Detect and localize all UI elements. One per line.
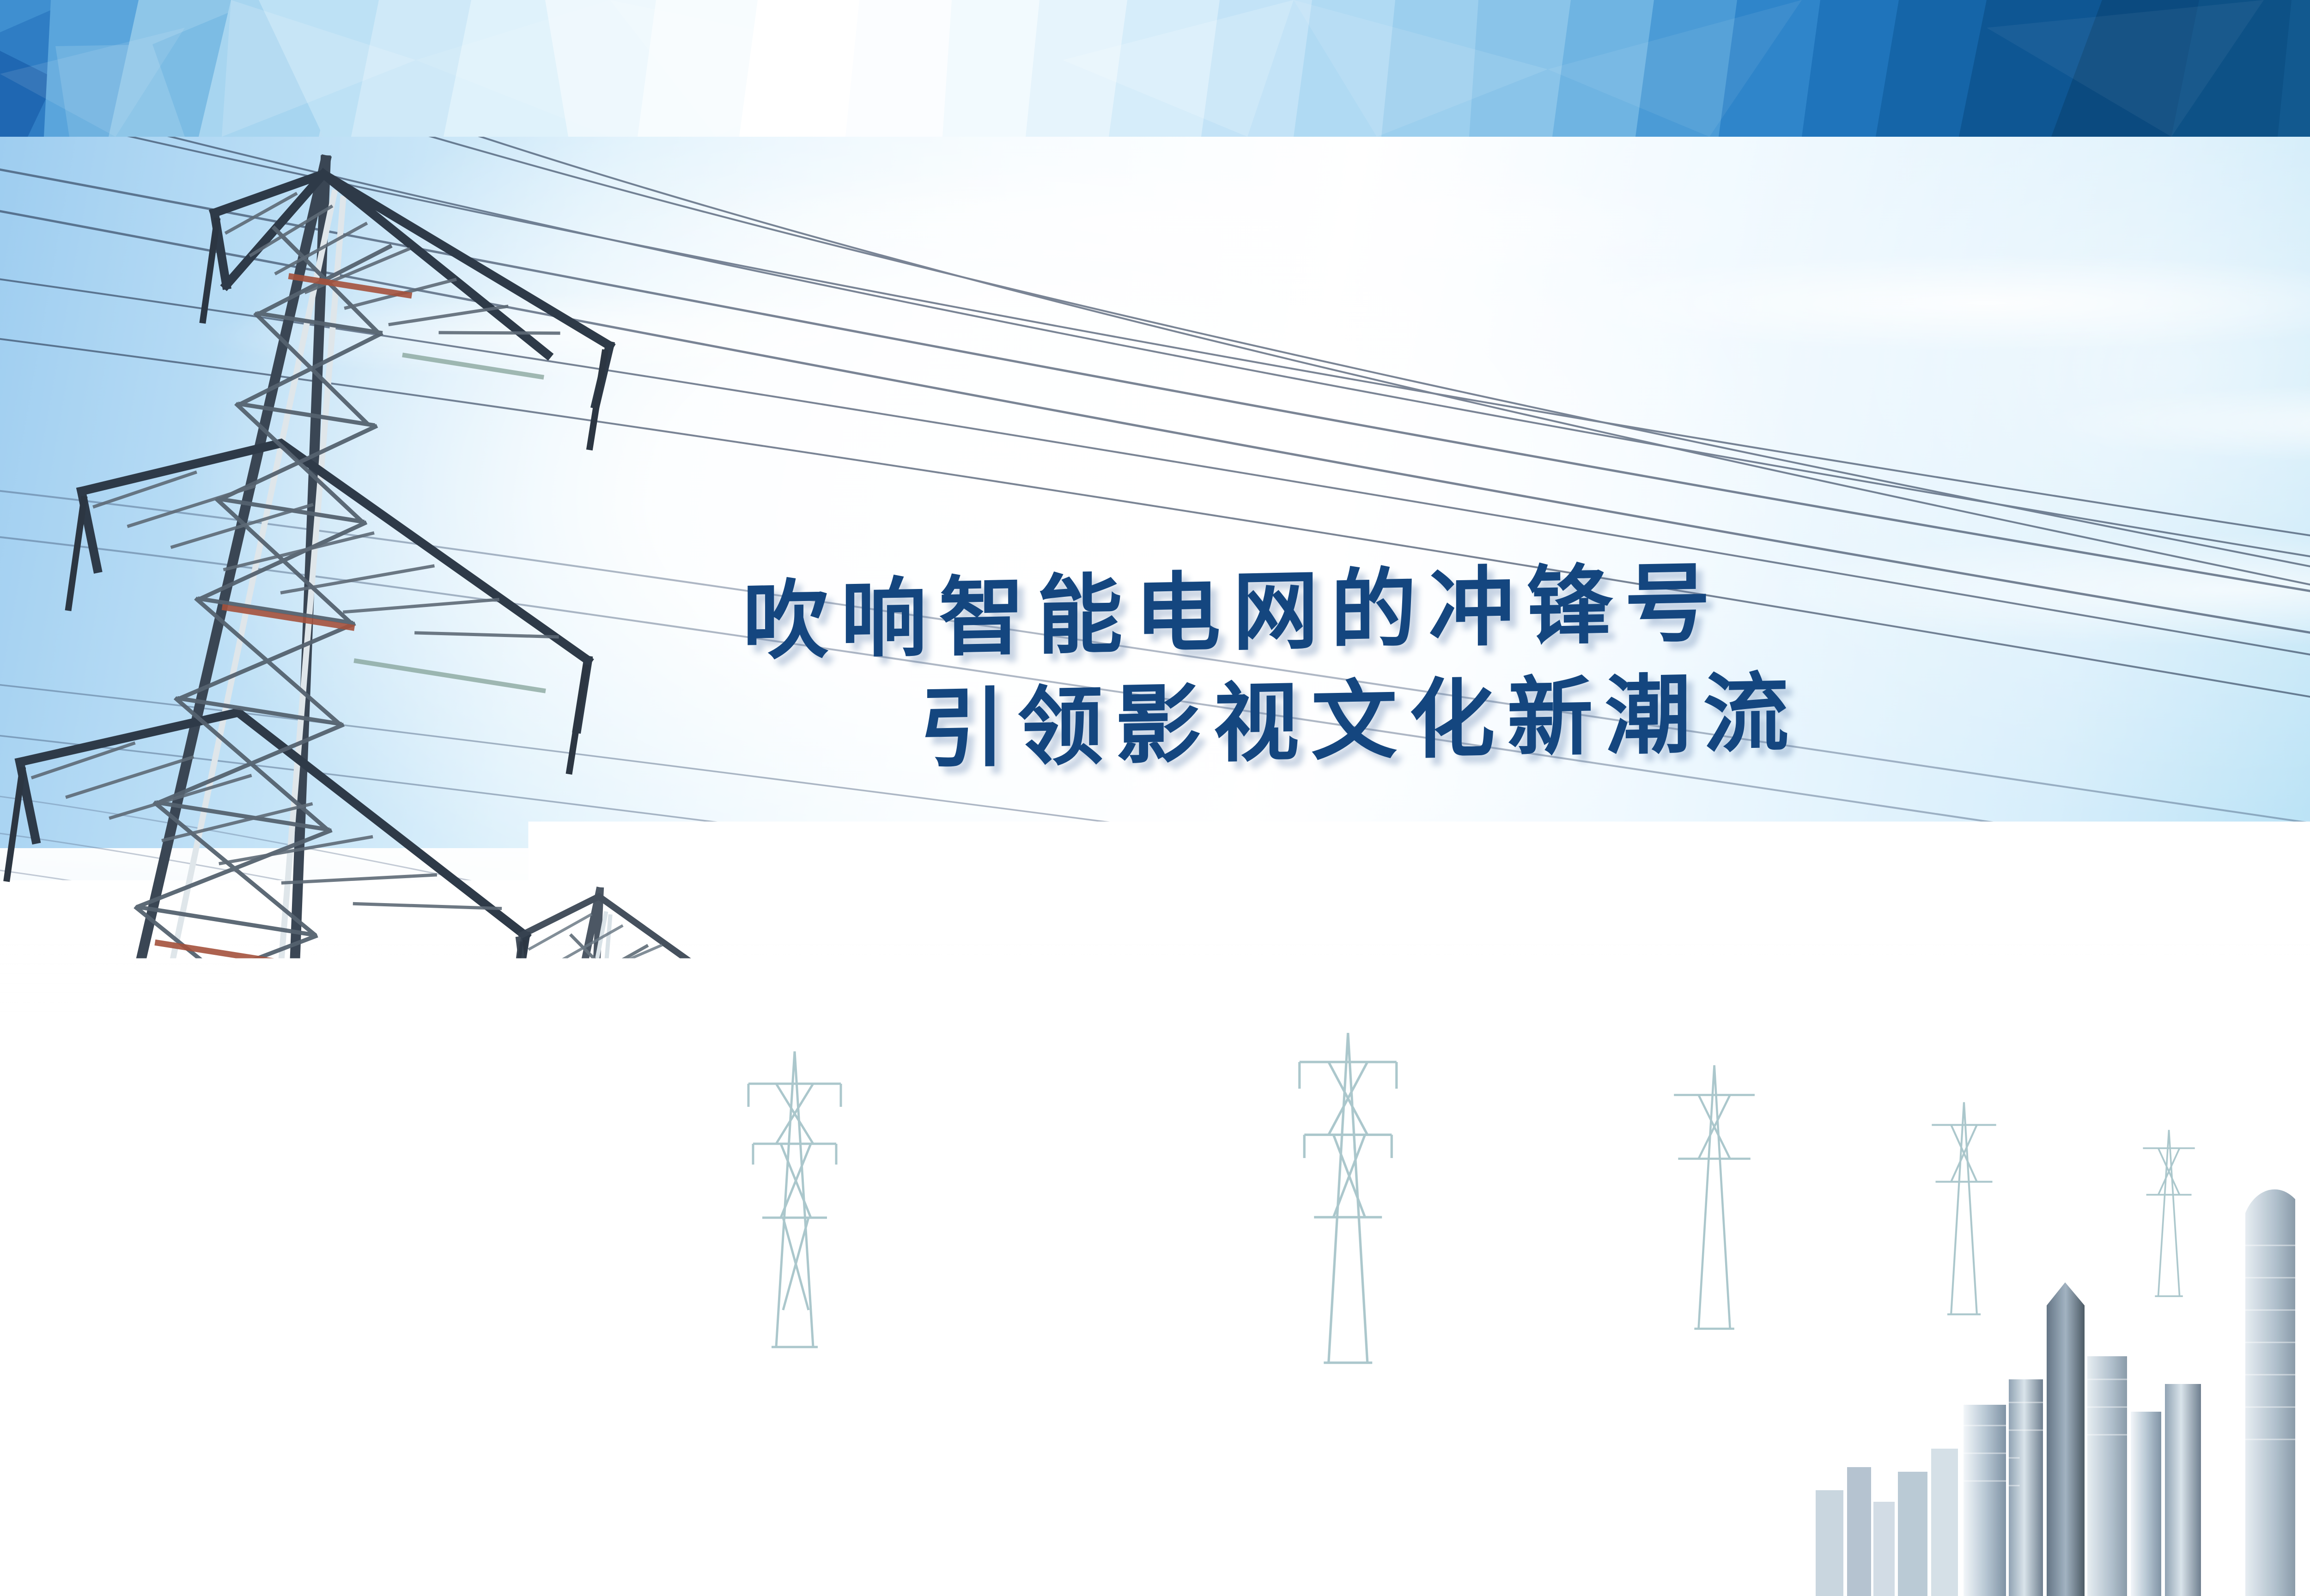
scene-photo [0,137,2310,1596]
wave-ribbons [0,137,2310,1596]
polygon-pattern-svg [0,0,2310,137]
poster-canvas: 吹响智能电网的冲锋号 引领影视文化新潮流 [0,0,2310,1596]
top-polygon-banner [0,0,2310,137]
